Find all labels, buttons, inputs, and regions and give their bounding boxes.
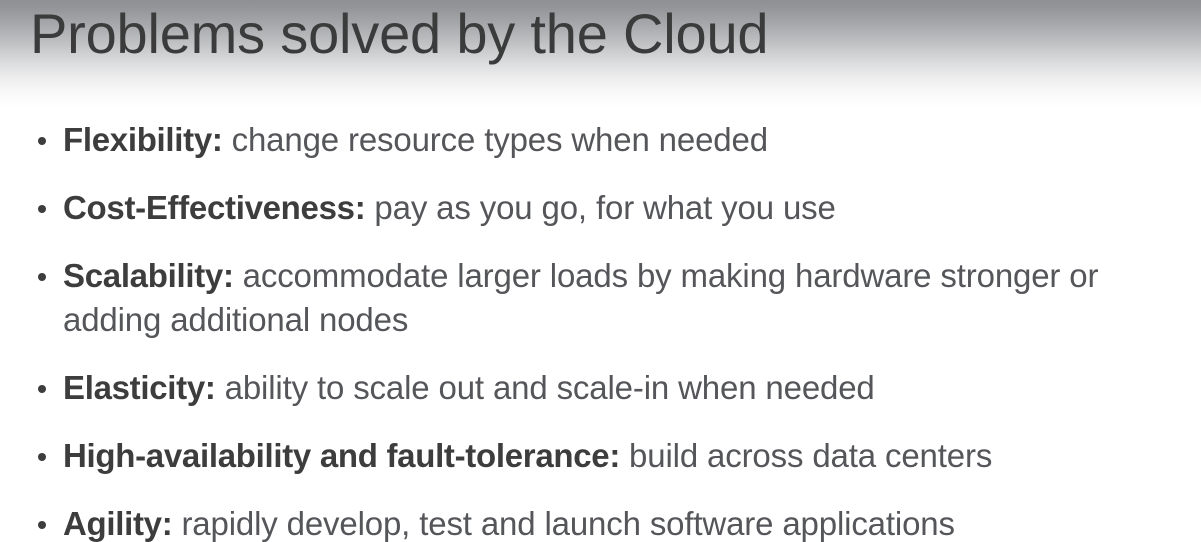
bullet-dot-icon xyxy=(38,521,46,529)
bullet-dot-icon xyxy=(38,385,46,393)
list-item: High-availability and fault-tolerance: b… xyxy=(30,434,1180,478)
bullet-detail: rapidly develop, test and launch softwar… xyxy=(172,505,954,542)
bullet-list: Flexibility: change resource types when … xyxy=(30,118,1180,542)
bullet-detail: pay as you go, for what you use xyxy=(365,189,835,226)
page-title: Problems solved by the Cloud xyxy=(30,4,768,64)
bullet-dot-icon xyxy=(38,453,46,461)
bullet-dot-icon xyxy=(38,137,46,145)
slide-canvas: Problems solved by the Cloud Flexibility… xyxy=(0,0,1201,542)
bullet-term: High-availability and fault-tolerance: xyxy=(63,437,620,474)
list-item: Flexibility: change resource types when … xyxy=(30,118,1180,162)
bullet-term: Cost-Effectiveness: xyxy=(63,189,365,226)
bullet-dot-icon xyxy=(38,205,46,213)
bullet-term: Elasticity: xyxy=(63,369,216,406)
list-item: Agility: rapidly develop, test and launc… xyxy=(30,502,1180,542)
bullet-term: Flexibility: xyxy=(63,121,223,158)
bullet-detail: ability to scale out and scale-in when n… xyxy=(216,369,875,406)
bullet-term: Agility: xyxy=(63,505,172,542)
list-item: Elasticity: ability to scale out and sca… xyxy=(30,366,1180,410)
bullet-detail: change resource types when needed xyxy=(223,121,768,158)
bullet-detail: build across data centers xyxy=(620,437,992,474)
list-item: Scalability: accommodate larger loads by… xyxy=(30,254,1180,342)
list-item: Cost-Effectiveness: pay as you go, for w… xyxy=(30,186,1180,230)
bullet-dot-icon xyxy=(38,273,46,281)
bullet-term: Scalability: xyxy=(63,257,234,294)
